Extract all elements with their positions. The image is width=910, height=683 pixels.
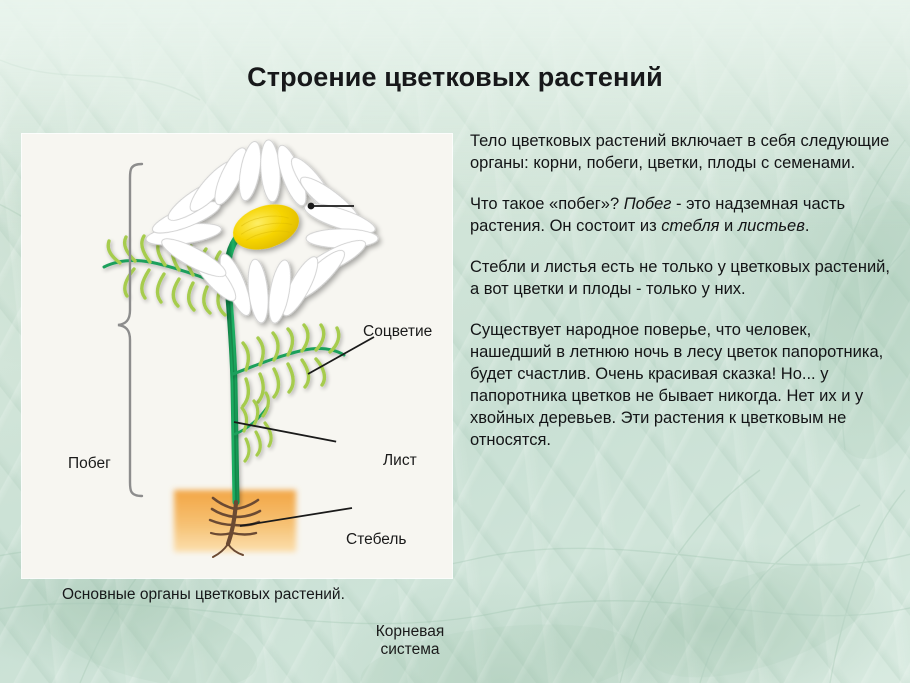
text-run: . bbox=[805, 217, 810, 235]
text-run: Существует народное поверье, что человек… bbox=[470, 321, 883, 449]
text-run: Стебли и листья есть не только у цветков… bbox=[470, 258, 890, 298]
emphasis-term: Побег bbox=[624, 195, 672, 213]
root-label-line1: Корневая bbox=[376, 623, 445, 640]
emphasis-term: стебля bbox=[661, 217, 719, 235]
leaf-mid-right bbox=[233, 325, 344, 406]
body-paragraph-p1: Тело цветковых растений включает в себя … bbox=[470, 130, 894, 174]
diagram-label-shoot: Побег bbox=[68, 455, 111, 473]
plant-diagram-illustration bbox=[22, 134, 452, 578]
root-label-line2: система bbox=[381, 641, 440, 658]
diagram-panel: Соцветие Лист Стебель Корневая система П… bbox=[22, 134, 452, 578]
diagram-caption: Основные органы цветковых растений. bbox=[62, 586, 345, 604]
diagram-label-inflorescence: Соцветие bbox=[363, 323, 432, 341]
body-paragraph-p4: Существует народное поверье, что человек… bbox=[470, 319, 894, 451]
text-run: Тело цветковых растений включает в себя … bbox=[470, 132, 889, 172]
slide-root: Строение цветковых растений bbox=[0, 0, 910, 683]
emphasis-term: листьев bbox=[738, 217, 805, 235]
page-title: Строение цветковых растений bbox=[0, 62, 910, 93]
diagram-label-leaf: Лист bbox=[383, 452, 417, 470]
body-text-column: Тело цветковых растений включает в себя … bbox=[470, 130, 894, 451]
text-run: Что такое «побег»? bbox=[470, 195, 624, 213]
text-run: и bbox=[719, 217, 737, 235]
leaf-lower-right bbox=[235, 393, 271, 461]
flower-head bbox=[129, 134, 395, 349]
diagram-label-root-system: Корневая система bbox=[358, 623, 462, 660]
shoot-brace-icon bbox=[118, 164, 142, 496]
diagram-label-stem: Стебель bbox=[346, 531, 407, 549]
body-paragraph-p3: Стебли и листья есть не только у цветков… bbox=[470, 256, 894, 300]
body-paragraph-p2: Что такое «побег»? Побег - это надземная… bbox=[470, 193, 894, 237]
